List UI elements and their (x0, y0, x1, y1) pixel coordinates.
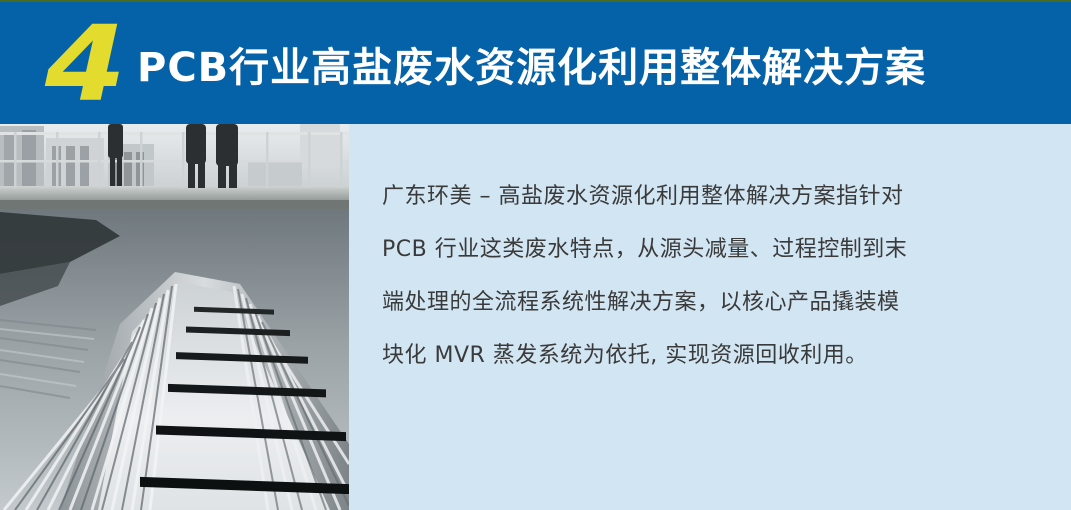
description-line: 块化 MVR 蒸发系统为依托, 实现资源回收利用。 (382, 329, 1032, 382)
description-line: 广东环美 – 高盐废水资源化利用整体解决方案指针对 (382, 170, 1032, 223)
facility-photo-image (0, 124, 349, 510)
slide-root: 4 PCB行业高盐废水资源化利用整体解决方案 (0, 0, 1071, 510)
header-bar: 4 PCB行业高盐废水资源化利用整体解决方案 (0, 0, 1071, 124)
facility-photo (0, 124, 349, 510)
description-line: PCB 行业这类废水特点，从源头减量、过程控制到末 (382, 223, 1032, 276)
description-line: 端处理的全流程系统性解决方案，以核心产品撬装模 (382, 276, 1032, 329)
description-panel: 广东环美 – 高盐废水资源化利用整体解决方案指针对 PCB 行业这类废水特点，从… (349, 124, 1071, 510)
section-number-badge: 4 (26, 10, 142, 118)
page-title: PCB行业高盐废水资源化利用整体解决方案 (137, 2, 926, 126)
description-text: 广东环美 – 高盐废水资源化利用整体解决方案指针对 PCB 行业这类废水特点，从… (382, 170, 1032, 382)
